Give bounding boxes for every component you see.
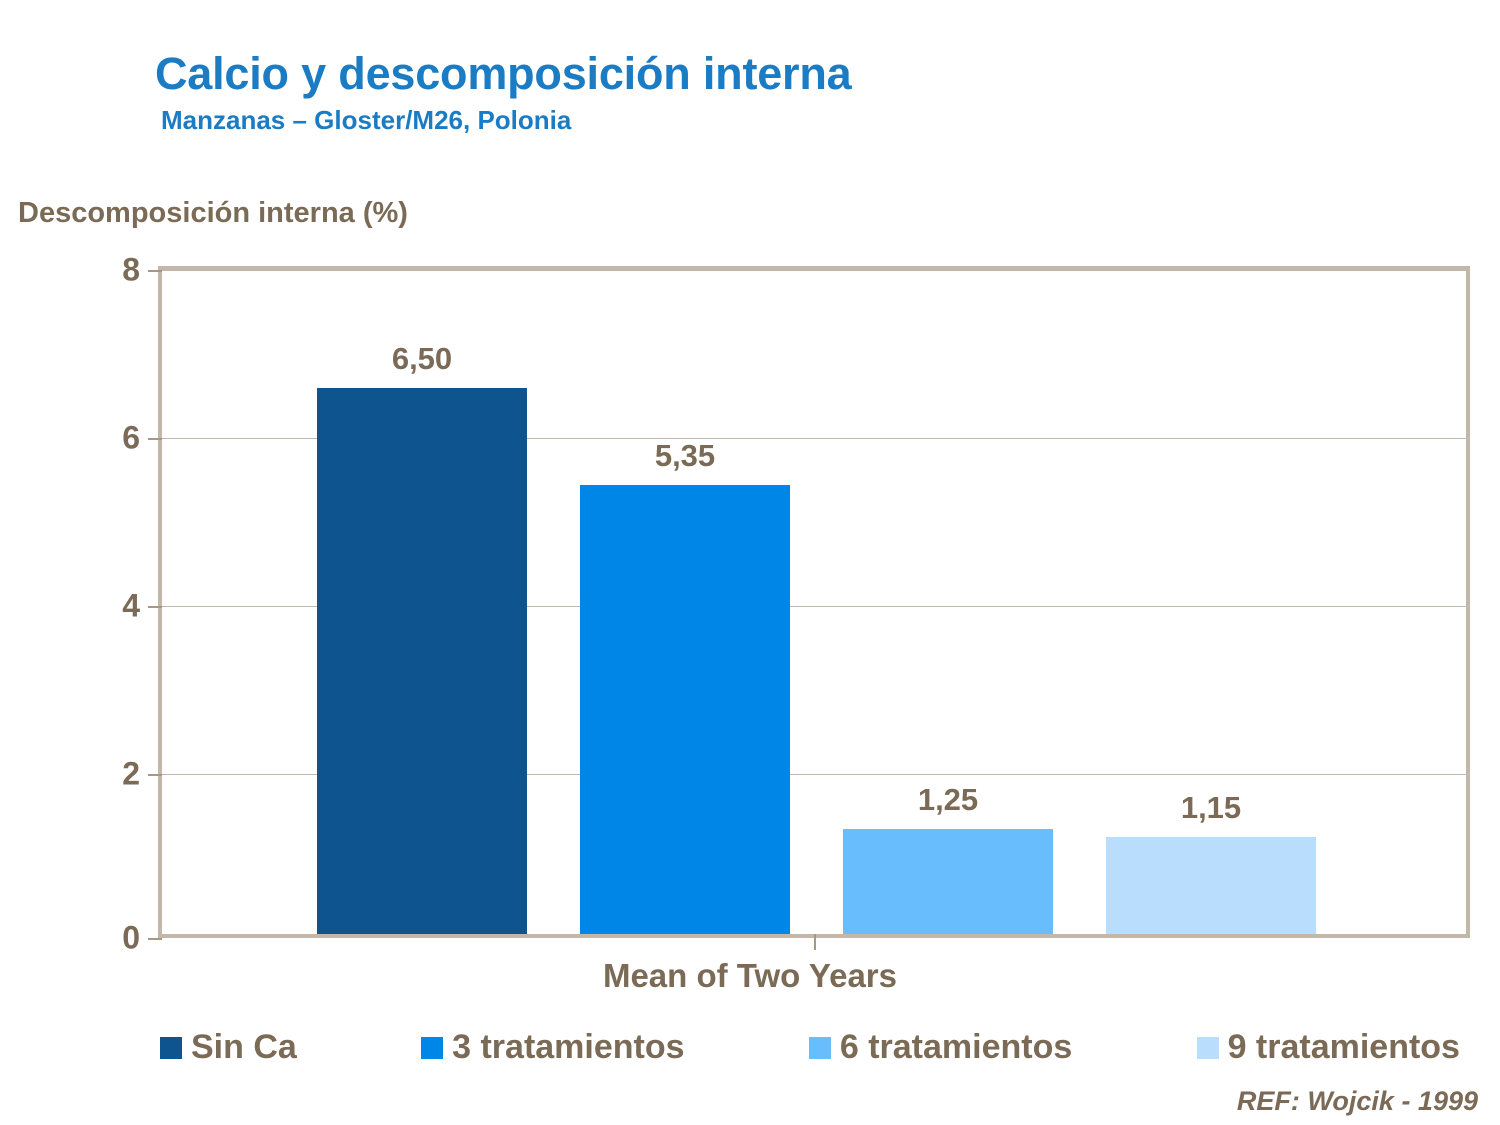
page-title: Calcio y descomposición interna <box>155 50 1355 97</box>
legend-swatch-icon <box>421 1037 443 1059</box>
reference-note: REF: Wojcik - 1999 <box>1237 1086 1478 1117</box>
tick-mark-6 <box>148 438 162 440</box>
page-subtitle: Manzanas – Gloster/M26, Polonia <box>161 105 1355 136</box>
y-tick-label-2: 2 <box>122 756 140 793</box>
y-tick-label-6: 6 <box>122 420 140 457</box>
y-tick-label-8: 8 <box>122 252 140 289</box>
legend-label: Sin Ca <box>191 1028 297 1067</box>
bar-6-tratamientos[interactable]: 1,25 <box>843 829 1053 934</box>
legend-label: 6 tratamientos <box>840 1028 1072 1067</box>
y-axis-title: Descomposición interna (%) <box>18 197 408 230</box>
legend-label: 9 tratamientos <box>1228 1028 1460 1067</box>
chart-legend: Sin Ca 3 tratamientos 6 tratamientos 9 t… <box>160 1028 1460 1067</box>
legend-label: 3 tratamientos <box>452 1028 684 1067</box>
tick-mark-4 <box>148 606 162 608</box>
legend-swatch-icon <box>809 1037 831 1059</box>
legend-item-9-tratamientos[interactable]: 9 tratamientos <box>1197 1028 1460 1067</box>
bar-9-tratamientos[interactable]: 1,15 <box>1106 837 1316 934</box>
chart-plot-area: 8 6 4 2 0 6,50 5,35 <box>158 266 1470 938</box>
x-axis-center-tick <box>814 934 816 950</box>
slide-canvas: Calcio y descomposición interna Manzanas… <box>0 0 1500 1125</box>
legend-item-3-tratamientos[interactable]: 3 tratamientos <box>421 1028 684 1067</box>
legend-item-sin-ca[interactable]: Sin Ca <box>160 1028 297 1067</box>
tick-mark-2 <box>148 774 162 776</box>
legend-swatch-icon <box>160 1037 182 1059</box>
bar-value-label: 5,35 <box>655 438 715 474</box>
gridline-8: 8 <box>162 270 1466 271</box>
bar-value-label: 1,25 <box>918 782 978 818</box>
bar-sin-ca[interactable]: 6,50 <box>317 388 527 934</box>
title-block: Calcio y descomposición interna Manzanas… <box>155 50 1355 136</box>
legend-swatch-icon <box>1197 1037 1219 1059</box>
chart-plot-wrapper: 8 6 4 2 0 6,50 5,35 <box>158 266 1470 938</box>
tick-mark-8 <box>148 270 162 272</box>
tick-mark-0 <box>148 938 162 940</box>
x-axis-title: Mean of Two Years <box>0 957 1500 995</box>
bar-value-label: 6,50 <box>392 341 452 377</box>
y-tick-label-0: 0 <box>122 920 140 957</box>
legend-item-6-tratamientos[interactable]: 6 tratamientos <box>809 1028 1072 1067</box>
y-tick-label-4: 4 <box>122 588 140 625</box>
bar-value-label: 1,15 <box>1181 790 1241 826</box>
bar-3-tratamientos[interactable]: 5,35 <box>580 485 790 934</box>
